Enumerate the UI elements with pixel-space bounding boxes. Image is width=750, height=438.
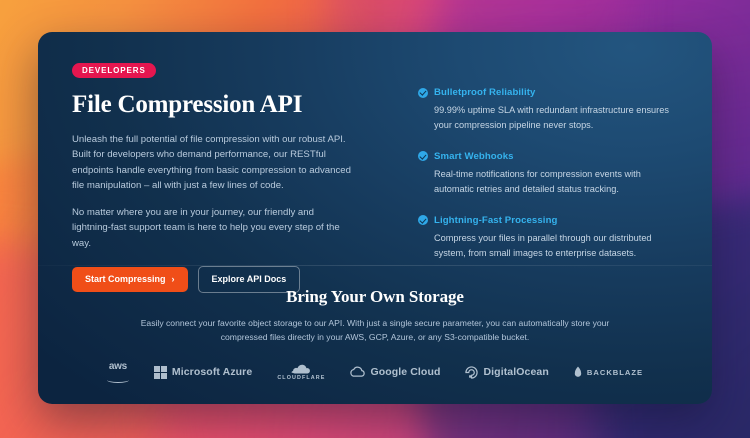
explore-api-docs-button[interactable]: Explore API Docs — [198, 266, 301, 293]
provider-logo-microsoft-azure: Microsoft Azure — [154, 366, 252, 379]
section-divider — [38, 265, 712, 266]
page-title: File Compression API — [72, 91, 394, 119]
start-compressing-button[interactable]: Start Compressing › — [72, 267, 188, 292]
feature-description: Compress your files in parallel through … — [434, 231, 678, 261]
cloudflare-wordmark: CLOUDFLARE — [277, 375, 325, 381]
features-column: Bulletproof Reliability 99.99% uptime SL… — [408, 60, 678, 265]
developers-badge: DEVELOPERS — [72, 63, 156, 78]
hero-paragraph-2: No matter where you are in your journey,… — [72, 205, 352, 252]
feature-item: Smart Webhooks Real-time notifications f… — [418, 151, 678, 197]
feature-header: Smart Webhooks — [418, 151, 678, 162]
feature-title: Lightning-Fast Processing — [434, 215, 558, 226]
feature-description: 99.99% uptime SLA with redundant infrast… — [434, 103, 678, 133]
feature-description: Real-time notifications for compression … — [434, 167, 678, 197]
feature-title: Smart Webhooks — [434, 151, 514, 162]
chevron-right-icon: › — [172, 275, 175, 284]
hero-top-section: DEVELOPERS File Compression API Unleash … — [38, 32, 712, 265]
provider-logo-strip: aws Microsoft Azure CLOUDFLARE — [78, 362, 672, 383]
google-cloud-icon — [350, 366, 365, 378]
azure-wordmark: Microsoft Azure — [172, 366, 252, 378]
check-circle-icon — [418, 215, 428, 225]
cloudflare-cloud-icon — [290, 364, 312, 374]
google-cloud-wordmark: Google Cloud — [370, 366, 440, 378]
provider-logo-cloudflare: CLOUDFLARE — [277, 364, 325, 381]
start-compressing-label: Start Compressing — [85, 275, 166, 284]
feature-item: Bulletproof Reliability 99.99% uptime SL… — [418, 87, 678, 133]
provider-logo-digitalocean: DigitalOcean — [465, 366, 548, 379]
backblaze-wordmark: BACKBLAZE — [587, 368, 643, 377]
check-circle-icon — [418, 151, 428, 161]
hero-text-column: DEVELOPERS File Compression API Unleash … — [72, 60, 408, 265]
hero-card: DEVELOPERS File Compression API Unleash … — [38, 32, 712, 404]
provider-logo-aws: aws — [107, 362, 129, 383]
provider-logo-google-cloud: Google Cloud — [350, 366, 440, 378]
digitalocean-icon — [465, 366, 478, 379]
digitalocean-wordmark: DigitalOcean — [483, 366, 548, 378]
backblaze-flame-icon — [574, 366, 582, 378]
feature-item: Lightning-Fast Processing Compress your … — [418, 215, 678, 261]
storage-subtitle: Easily connect your favorite object stor… — [135, 316, 615, 345]
check-circle-icon — [418, 88, 428, 98]
feature-title: Bulletproof Reliability — [434, 87, 535, 98]
feature-header: Bulletproof Reliability — [418, 87, 678, 98]
aws-wordmark: aws — [109, 362, 127, 371]
aws-smile-icon — [107, 377, 129, 383]
hero-cta-row: Start Compressing › Explore API Docs — [72, 266, 394, 293]
hero-paragraph-1: Unleash the full potential of file compr… — [72, 132, 352, 194]
microsoft-squares-icon — [154, 366, 167, 379]
provider-logo-backblaze: BACKBLAZE — [574, 366, 643, 378]
feature-header: Lightning-Fast Processing — [418, 215, 678, 226]
